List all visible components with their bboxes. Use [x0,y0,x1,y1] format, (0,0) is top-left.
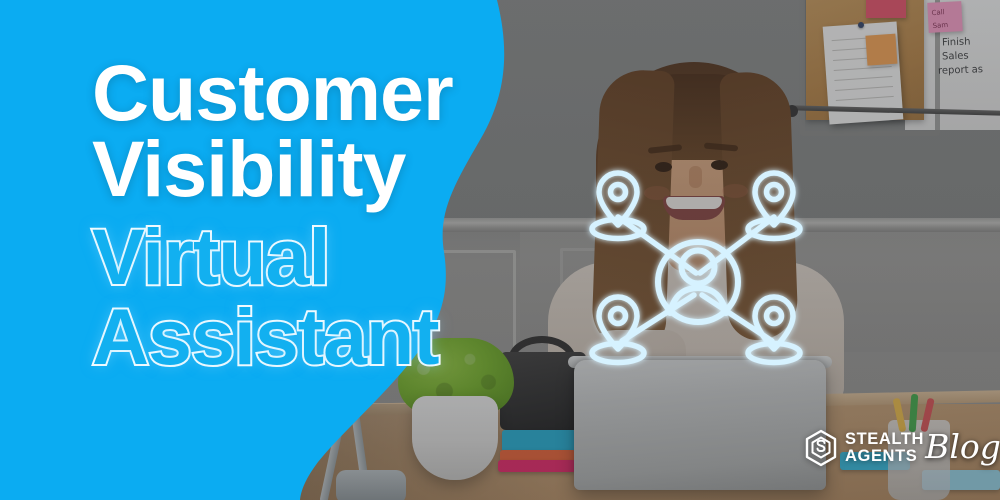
headline-outline-block: Virtual Assistant [92,217,972,378]
headline-line-2: Visibility [92,132,972,206]
headline-block: Customer Visibility Virtual Assistant [92,56,972,378]
headline-line-4: Assistant [92,297,972,378]
headline-line-1: Customer [92,56,972,130]
headline-line-3: Virtual [92,217,972,298]
logo-word-agents: AGENTS [845,448,924,465]
logo-wordmark: STEALTH AGENTS [845,431,924,465]
promo-banner: Call Sam Finish Sales report as [0,0,1000,500]
hexagon-s-icon [804,429,838,467]
logo-word-stealth: STEALTH [845,431,924,448]
logo-script-blog: Blog [925,427,1000,466]
stealth-agents-blog-logo[interactable]: STEALTH AGENTS Blog [804,424,1000,472]
